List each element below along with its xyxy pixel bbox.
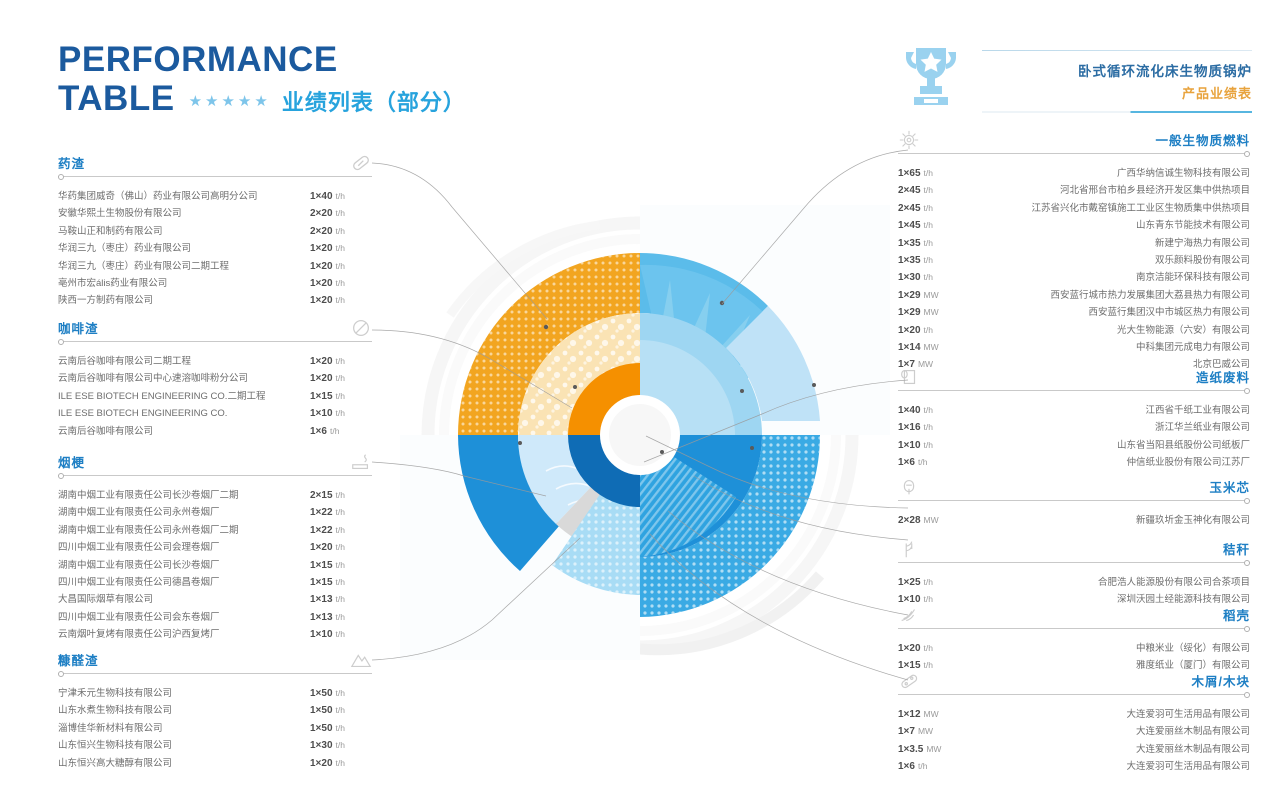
company-name: 中粮米业（绥化）有限公司 bbox=[1136, 641, 1250, 657]
table-row: 大连爱羽可生活用品有限公司1×6t/h bbox=[898, 758, 1250, 775]
table-row: 云南烟叶复烤有限责任公司沪西复烤厂1×10t/h bbox=[58, 626, 372, 643]
capacity-value: 1×3.5MW bbox=[898, 741, 960, 758]
table-row: ILE ESE BIOTECH ENGINEERING CO.1×10t/h bbox=[58, 405, 372, 422]
row-list: 江西省千纸工业有限公司1×40t/h浙江华兰纸业有限公司1×16t/h山东省当阳… bbox=[898, 402, 1250, 472]
company-name: 中科集团元成电力有限公司 bbox=[1136, 340, 1250, 356]
company-name: 光大生物能源（六安）有限公司 bbox=[1117, 323, 1250, 339]
table-row: 四川中烟工业有限责任公司会东卷烟厂1×13t/h bbox=[58, 609, 372, 626]
capacity-value: 2×45t/h bbox=[898, 200, 960, 217]
header-rule-top bbox=[982, 50, 1252, 51]
section-title: 秸秆 bbox=[1223, 539, 1250, 558]
capacity-value: 1×6t/h bbox=[310, 423, 372, 440]
capacity-value: 1×35t/h bbox=[898, 252, 960, 269]
table-row: 湖南中烟工业有限责任公司长沙卷烟厂二期2×15t/h bbox=[58, 487, 372, 504]
capacity-value: 1×20t/h bbox=[310, 539, 372, 556]
company-name: 华药集团威奇（佛山）药业有限公司高明分公司 bbox=[58, 189, 258, 205]
table-row: 河北省邢台市柏乡县经济开发区集中供热项目2×45t/h bbox=[898, 182, 1250, 199]
section-yaozha: 药渣 华药集团威奇（佛山）药业有限公司高明分公司1×40t/h安徽华熙土生物股份… bbox=[58, 148, 372, 310]
company-name: 四川中烟工业有限责任公司会东卷烟厂 bbox=[58, 610, 220, 626]
capacity-value: 1×50t/h bbox=[310, 685, 372, 702]
company-name: 河北省邢台市柏乡县经济开发区集中供热项目 bbox=[1060, 183, 1250, 199]
table-row: 新疆玖圻金玉神化有限公司2×28MW bbox=[898, 512, 1250, 529]
capacity-value: 1×6t/h bbox=[898, 758, 960, 775]
capacity-value: 1×15t/h bbox=[310, 388, 372, 405]
title-chinese: 业绩列表（部分） bbox=[282, 85, 466, 117]
rice-husk-icon bbox=[898, 604, 920, 626]
title-line-1: PERFORMANCE bbox=[58, 40, 466, 79]
table-row: 合肥浩人能源股份有限公司合茶项目1×25t/h bbox=[898, 574, 1250, 591]
table-row: 浙江华兰纸业有限公司1×16t/h bbox=[898, 419, 1250, 436]
company-name: 湖南中烟工业有限责任公司长沙卷烟厂二期 bbox=[58, 488, 239, 504]
capacity-value: 1×13t/h bbox=[310, 591, 372, 608]
company-name: ILE ESE BIOTECH ENGINEERING CO.二期工程 bbox=[58, 389, 265, 405]
row-list: 广西华纳信诚生物科技有限公司1×65t/h河北省邢台市柏乡县经济开发区集中供热项… bbox=[898, 165, 1250, 374]
table-row: 仲信纸业股份有限公司江苏厂1×6t/h bbox=[898, 454, 1250, 471]
company-name: 山东水煮生物科技有限公司 bbox=[58, 703, 172, 719]
table-row: 华润三九（枣庄）药业有限公司二期工程1×20t/h bbox=[58, 258, 372, 275]
company-name: 亳州市宏ális药业有限公司 bbox=[58, 276, 167, 292]
product-subtitle: 产品业绩表 bbox=[982, 83, 1252, 102]
section-title: 咖啡渣 bbox=[58, 318, 99, 337]
table-row: 陕西一方制药有限公司1×20t/h bbox=[58, 292, 372, 309]
capacity-value: 1×50t/h bbox=[310, 702, 372, 719]
company-name: 山东青东节能技术有限公司 bbox=[1136, 218, 1250, 234]
table-row: 马鞍山正和制药有限公司2×20t/h bbox=[58, 223, 372, 240]
coffee-icon bbox=[350, 317, 372, 339]
company-name: 大昌国际烟草有限公司 bbox=[58, 592, 153, 608]
table-row: 宁津禾元生物科技有限公司1×50t/h bbox=[58, 685, 372, 702]
capacity-value: 1×50t/h bbox=[310, 720, 372, 737]
capacity-value: 1×30t/h bbox=[310, 737, 372, 754]
company-name: 宁津禾元生物科技有限公司 bbox=[58, 686, 172, 702]
company-name: 马鞍山正和制药有限公司 bbox=[58, 224, 163, 240]
section-title: 烟梗 bbox=[58, 452, 85, 471]
section-furfural: 糠醛渣 宁津禾元生物科技有限公司1×50t/h山东水煮生物科技有限公司1×50t… bbox=[58, 645, 372, 772]
section-straw: 秸秆 合肥浩人能源股份有限公司合茶项目1×25t/h深圳沃园土经能源科技有限公司… bbox=[898, 534, 1250, 609]
capacity-value: 1×13t/h bbox=[310, 609, 372, 626]
table-row: 亳州市宏ális药业有限公司1×20t/h bbox=[58, 275, 372, 292]
company-name: 合肥浩人能源股份有限公司合茶项目 bbox=[1098, 575, 1250, 591]
table-row: 江苏省兴化市戴窑镇施工工业区生物质集中供热项目2×45t/h bbox=[898, 200, 1250, 217]
capsule-icon bbox=[350, 152, 372, 174]
capacity-value: 1×20t/h bbox=[310, 275, 372, 292]
capacity-value: 2×15t/h bbox=[310, 487, 372, 504]
capacity-value: 1×65t/h bbox=[898, 165, 960, 182]
page-title: PERFORMANCE TABLE ★ ★ ★ ★ ★ 业绩列表（部分） bbox=[58, 40, 466, 118]
table-row: 江西省千纸工业有限公司1×40t/h bbox=[898, 402, 1250, 419]
table-row: 西安蓝行城市热力发展集团大荔县热力有限公司1×29MW bbox=[898, 287, 1250, 304]
company-name: 湖南中烟工业有限责任公司长沙卷烟厂 bbox=[58, 558, 220, 574]
star-icon: ★ bbox=[221, 94, 234, 109]
capacity-value: 1×29MW bbox=[898, 287, 960, 304]
capacity-value: 1×20t/h bbox=[898, 322, 960, 339]
company-name: 华润三九（枣庄）药业有限公司二期工程 bbox=[58, 259, 229, 275]
company-name: 大连爱羽可生活用品有限公司 bbox=[1126, 707, 1250, 723]
company-name: 山东恒兴生物科技有限公司 bbox=[58, 738, 172, 754]
section-title: 糠醛渣 bbox=[58, 650, 99, 669]
company-name: ILE ESE BIOTECH ENGINEERING CO. bbox=[58, 406, 227, 422]
table-row: 光大生物能源（六安）有限公司1×20t/h bbox=[898, 322, 1250, 339]
section-tobacco: 烟梗 湖南中烟工业有限责任公司长沙卷烟厂二期2×15t/h湖南中烟工业有限责任公… bbox=[58, 447, 372, 644]
company-name: 华润三九（枣庄）药业有限公司 bbox=[58, 241, 191, 257]
company-name: 淄博佳华新材料有限公司 bbox=[58, 721, 163, 737]
table-row: 湖南中烟工业有限责任公司永州卷烟厂1×22t/h bbox=[58, 504, 372, 521]
capacity-value: 1×15t/h bbox=[310, 574, 372, 591]
section-title: 药渣 bbox=[58, 153, 85, 172]
infographic-page: PERFORMANCE TABLE ★ ★ ★ ★ ★ 业绩列表（部分） bbox=[0, 0, 1280, 809]
capacity-value: 1×10t/h bbox=[310, 626, 372, 643]
star-icon: ★ bbox=[189, 94, 202, 109]
capacity-value: 1×20t/h bbox=[898, 640, 960, 657]
row-list: 云南后谷咖啡有限公司二期工程1×20t/h云南后谷咖啡有限公司中心速溶咖啡粉分公… bbox=[58, 353, 372, 440]
capacity-value: 1×20t/h bbox=[310, 240, 372, 257]
company-name: 山东省当阳县纸股份公司纸板厂 bbox=[1117, 438, 1250, 454]
company-name: 双乐颜料股份有限公司 bbox=[1155, 253, 1250, 269]
company-name: 云南后谷咖啡有限公司 bbox=[58, 424, 153, 440]
corn-icon bbox=[898, 476, 920, 498]
company-name: 大连爱丽丝木制品有限公司 bbox=[1136, 742, 1250, 758]
company-name: 四川中烟工业有限责任公司德昌卷烟厂 bbox=[58, 575, 220, 591]
section-title: 造纸废料 bbox=[1196, 367, 1250, 386]
section-title: 玉米芯 bbox=[1209, 477, 1250, 496]
table-row: 山东恒兴生物科技有限公司1×30t/h bbox=[58, 737, 372, 754]
product-name: 卧式循环流化床生物质锅炉 bbox=[982, 60, 1252, 80]
company-name: 南京洁能环保科技有限公司 bbox=[1136, 270, 1250, 286]
table-row: 中粮米业（绥化）有限公司1×20t/h bbox=[898, 640, 1250, 657]
radial-chart bbox=[370, 205, 910, 670]
company-name: 云南烟叶复烤有限责任公司沪西复烤厂 bbox=[58, 627, 220, 643]
table-row: 南京洁能环保科技有限公司1×30t/h bbox=[898, 269, 1250, 286]
section-title: 一般生物质燃料 bbox=[1155, 130, 1250, 149]
section-paper-waste: 造纸废料 江西省千纸工业有限公司1×40t/h浙江华兰纸业有限公司1×16t/h… bbox=[898, 362, 1250, 472]
capacity-value: 1×7MW bbox=[898, 723, 960, 740]
table-row: 华药集团威奇（佛山）药业有限公司高明分公司1×40t/h bbox=[58, 188, 372, 205]
table-row: 四川中烟工业有限责任公司德昌卷烟厂1×15t/h bbox=[58, 574, 372, 591]
row-list: 华药集团威奇（佛山）药业有限公司高明分公司1×40t/h安徽华熙土生物股份有限公… bbox=[58, 188, 372, 310]
table-row: 大连爱丽丝木制品有限公司1×7MW bbox=[898, 723, 1250, 740]
capacity-value: 1×40t/h bbox=[898, 402, 960, 419]
straw-icon bbox=[898, 538, 920, 560]
section-title: 稻壳 bbox=[1223, 605, 1250, 624]
table-row: 安徽华熙土生物股份有限公司2×20t/h bbox=[58, 205, 372, 222]
star-icon: ★ bbox=[205, 94, 218, 109]
company-name: 广西华纳信诚生物科技有限公司 bbox=[1117, 166, 1250, 182]
capacity-value: 2×28MW bbox=[898, 512, 960, 529]
capacity-value: 1×30t/h bbox=[898, 269, 960, 286]
table-row: 大连爱羽可生活用品有限公司1×12MW bbox=[898, 706, 1250, 723]
table-row: 华润三九（枣庄）药业有限公司1×20t/h bbox=[58, 240, 372, 257]
wood-chip-icon bbox=[898, 670, 920, 692]
company-name: 西安蓝行城市热力发展集团大荔县热力有限公司 bbox=[1050, 288, 1250, 304]
table-row: 山东省当阳县纸股份公司纸板厂1×10t/h bbox=[898, 437, 1250, 454]
trophy-icon bbox=[900, 44, 962, 113]
table-row: 云南后谷咖啡有限公司中心速溶咖啡粉分公司1×20t/h bbox=[58, 370, 372, 387]
company-name: 新建宁海热力有限公司 bbox=[1155, 236, 1250, 252]
company-name: 云南后谷咖啡有限公司中心速溶咖啡粉分公司 bbox=[58, 371, 248, 387]
product-header: 卧式循环流化床生物质锅炉 产品业绩表 bbox=[982, 50, 1252, 113]
capacity-value: 2×45t/h bbox=[898, 182, 960, 199]
table-row: 双乐颜料股份有限公司1×35t/h bbox=[898, 252, 1250, 269]
capacity-value: 1×40t/h bbox=[310, 188, 372, 205]
cigarette-icon bbox=[350, 451, 372, 473]
capacity-value: 1×35t/h bbox=[898, 235, 960, 252]
capacity-value: 1×12MW bbox=[898, 706, 960, 723]
star-icon: ★ bbox=[238, 94, 251, 109]
capacity-value: 1×6t/h bbox=[898, 454, 960, 471]
company-name: 山东恒兴高大糖醇有限公司 bbox=[58, 756, 172, 772]
table-row: 西安蓝行集团汉中市城区热力有限公司1×29MW bbox=[898, 304, 1250, 321]
company-name: 云南后谷咖啡有限公司二期工程 bbox=[58, 354, 191, 370]
capacity-value: 1×25t/h bbox=[898, 574, 960, 591]
table-row: 湖南中烟工业有限责任公司永州卷烟厂二期1×22t/h bbox=[58, 522, 372, 539]
section-rice-husk: 稻壳 中粮米业（绥化）有限公司1×20t/h雅度纸业（厦门）有限公司1×15t/… bbox=[898, 600, 1250, 675]
company-name: 西安蓝行集团汉中市城区热力有限公司 bbox=[1088, 305, 1250, 321]
title-line-2: TABLE bbox=[58, 79, 175, 118]
table-row: 中科集团元成电力有限公司1×14MW bbox=[898, 339, 1250, 356]
header-rule-bottom bbox=[982, 111, 1252, 113]
table-row: ILE ESE BIOTECH ENGINEERING CO.二期工程1×15t… bbox=[58, 388, 372, 405]
company-name: 新疆玖圻金玉神化有限公司 bbox=[1136, 513, 1250, 529]
company-name: 江苏省兴化市戴窑镇施工工业区生物质集中供热项目 bbox=[1031, 201, 1250, 217]
star-icon: ★ bbox=[254, 94, 267, 109]
company-name: 浙江华兰纸业有限公司 bbox=[1155, 420, 1250, 436]
company-name: 湖南中烟工业有限责任公司永州卷烟厂二期 bbox=[58, 523, 239, 539]
row-list: 湖南中烟工业有限责任公司长沙卷烟厂二期2×15t/h湖南中烟工业有限责任公司永州… bbox=[58, 487, 372, 644]
capacity-value: 1×10t/h bbox=[898, 437, 960, 454]
table-row: 山东水煮生物科技有限公司1×50t/h bbox=[58, 702, 372, 719]
section-wood: 木屑/木块 大连爱羽可生活用品有限公司1×12MW大连爱丽丝木制品有限公司1×7… bbox=[898, 666, 1250, 776]
table-row: 大昌国际烟草有限公司1×13t/h bbox=[58, 591, 372, 608]
capacity-value: 1×15t/h bbox=[310, 557, 372, 574]
section-coffee: 咖啡渣 云南后谷咖啡有限公司二期工程1×20t/h云南后谷咖啡有限公司中心速溶咖… bbox=[58, 313, 372, 440]
capacity-value: 1×22t/h bbox=[310, 522, 372, 539]
capacity-value: 2×20t/h bbox=[310, 205, 372, 222]
company-name: 安徽华熙土生物股份有限公司 bbox=[58, 206, 182, 222]
table-row: 湖南中烟工业有限责任公司长沙卷烟厂1×15t/h bbox=[58, 557, 372, 574]
capacity-value: 1×16t/h bbox=[898, 419, 960, 436]
capacity-value: 1×20t/h bbox=[310, 353, 372, 370]
section-corn-cob: 玉米芯 新疆玖圻金玉神化有限公司2×28MW bbox=[898, 472, 1250, 529]
row-list: 新疆玖圻金玉神化有限公司2×28MW bbox=[898, 512, 1250, 529]
table-row: 山东青东节能技术有限公司1×45t/h bbox=[898, 217, 1250, 234]
company-name: 大连爱羽可生活用品有限公司 bbox=[1126, 759, 1250, 775]
capacity-value: 1×20t/h bbox=[310, 755, 372, 772]
row-list: 宁津禾元生物科技有限公司1×50t/h山东水煮生物科技有限公司1×50t/h淄博… bbox=[58, 685, 372, 772]
section-general-biomass: 一般生物质燃料 广西华纳信诚生物科技有限公司1×65t/h河北省邢台市柏乡县经济… bbox=[898, 125, 1250, 374]
table-row: 淄博佳华新材料有限公司1×50t/h bbox=[58, 720, 372, 737]
capacity-value: 1×45t/h bbox=[898, 217, 960, 234]
table-row: 大连爱丽丝木制品有限公司1×3.5MW bbox=[898, 741, 1250, 758]
table-row: 云南后谷咖啡有限公司1×6t/h bbox=[58, 423, 372, 440]
section-title: 木屑/木块 bbox=[1192, 671, 1250, 690]
row-list: 大连爱羽可生活用品有限公司1×12MW大连爱丽丝木制品有限公司1×7MW大连爱丽… bbox=[898, 706, 1250, 776]
company-name: 湖南中烟工业有限责任公司永州卷烟厂 bbox=[58, 505, 220, 521]
capacity-value: 1×10t/h bbox=[310, 405, 372, 422]
company-name: 大连爱丽丝木制品有限公司 bbox=[1136, 724, 1250, 740]
table-row: 四川中烟工业有限责任公司会理卷烟厂1×20t/h bbox=[58, 539, 372, 556]
company-name: 仲信纸业股份有限公司江苏厂 bbox=[1126, 455, 1250, 471]
paper-roll-icon bbox=[898, 366, 920, 388]
capacity-value: 1×29MW bbox=[898, 304, 960, 321]
capacity-value: 2×20t/h bbox=[310, 223, 372, 240]
mountain-icon bbox=[350, 649, 372, 671]
table-row: 新建宁海热力有限公司1×35t/h bbox=[898, 235, 1250, 252]
table-row: 云南后谷咖啡有限公司二期工程1×20t/h bbox=[58, 353, 372, 370]
table-row: 山东恒兴高大糖醇有限公司1×20t/h bbox=[58, 755, 372, 772]
capacity-value: 1×20t/h bbox=[310, 292, 372, 309]
capacity-value: 1×20t/h bbox=[310, 258, 372, 275]
table-row: 广西华纳信诚生物科技有限公司1×65t/h bbox=[898, 165, 1250, 182]
biomass-icon bbox=[898, 129, 920, 151]
capacity-value: 1×20t/h bbox=[310, 370, 372, 387]
company-name: 陕西一方制药有限公司 bbox=[58, 293, 153, 309]
capacity-value: 1×14MW bbox=[898, 339, 960, 356]
capacity-value: 1×22t/h bbox=[310, 504, 372, 521]
company-name: 四川中烟工业有限责任公司会理卷烟厂 bbox=[58, 540, 220, 556]
company-name: 江西省千纸工业有限公司 bbox=[1145, 403, 1250, 419]
star-rating: ★ ★ ★ ★ ★ bbox=[189, 94, 268, 109]
